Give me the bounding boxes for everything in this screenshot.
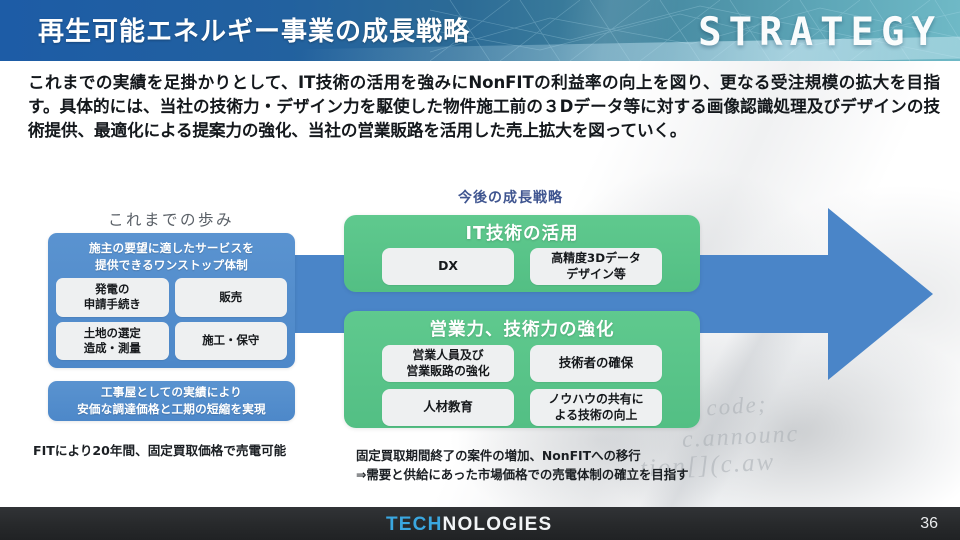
page-title: 再生可能エネルギー事業の成長戦略 [38,11,470,48]
company-logo-part2: NOLOGIES [443,514,553,535]
it-strategy-cell: DX [382,248,514,285]
it-strategy-panel-title: IT技術の活用 [344,220,700,245]
onestop-cell: 施工・保守 [175,322,288,361]
onestop-panel: 施主の要望に適したサービスを提供できるワンストップ体制 発電の申請手続き 販売 … [48,233,295,368]
onestop-panel-title: 施主の要望に適したサービスを提供できるワンストップ体制 [48,240,295,274]
sales-strategy-panel: 営業力、技術力の強化 営業人員及び営業販路の強化 技術者の確保 人材教育 ノウハ… [344,311,700,428]
onestop-cell: 発電の申請手続き [56,278,169,317]
sales-strategy-panel-title: 営業力、技術力の強化 [344,316,700,341]
sales-strategy-cell: 営業人員及び営業販路の強化 [382,345,514,382]
sales-strategy-cell: 技術者の確保 [530,345,662,382]
it-strategy-panel: IT技術の活用 DX 高精度3Dデータデザイン等 [344,215,700,292]
onestop-cell-grid: 発電の申請手続き 販売 土地の選定造成・測量 施工・保守 [56,278,287,360]
slide-header-band: 再生可能エネルギー事業の成長戦略 STRATEGY [0,0,960,61]
sales-strategy-cell-grid: 営業人員及び営業販路の強化 技術者の確保 人材教育 ノウハウの共有による技術の向… [382,345,662,426]
header-badge-word: STRATEGY [698,10,942,55]
track-record-panel: 工事屋としての実績により安価な調達価格と工期の短縮を実現 [48,381,295,421]
right-section-caption: 今後の成長戦略 [458,187,563,207]
sales-strategy-cell: ノウハウの共有による技術の向上 [530,389,662,426]
it-strategy-cell: 高精度3Dデータデザイン等 [530,248,662,285]
onestop-cell: 販売 [175,278,288,317]
slide-footer-bar: TECHNOLOGIES 36 [0,507,960,540]
track-record-panel-title: 工事屋としての実績により安価な調達価格と工期の短縮を実現 [77,384,266,418]
company-logo-part1: TECH [386,514,443,535]
sales-strategy-cell: 人材教育 [382,389,514,426]
it-strategy-cell-grid: DX 高精度3Dデータデザイン等 [382,248,662,285]
onestop-cell: 土地の選定造成・測量 [56,322,169,361]
lead-paragraph: これまでの実績を足掛かりとして、IT技術の活用を強みにNonFITの利益率の向上… [28,71,940,144]
company-logo: TECHNOLOGIES [386,514,552,536]
page-number: 36 [920,515,938,533]
right-footnote: 固定買取期間終了の案件の増加、NonFITへの移行⇒需要と供給にあった市場価格で… [356,447,689,484]
left-section-caption: これまでの歩み [108,208,234,230]
left-footnote: FITにより20年間、固定買取価格で売電可能 [33,440,286,459]
slide-canvas: r c. code; c.announc tion[](c.aw 再生可能エネル… [0,0,960,540]
